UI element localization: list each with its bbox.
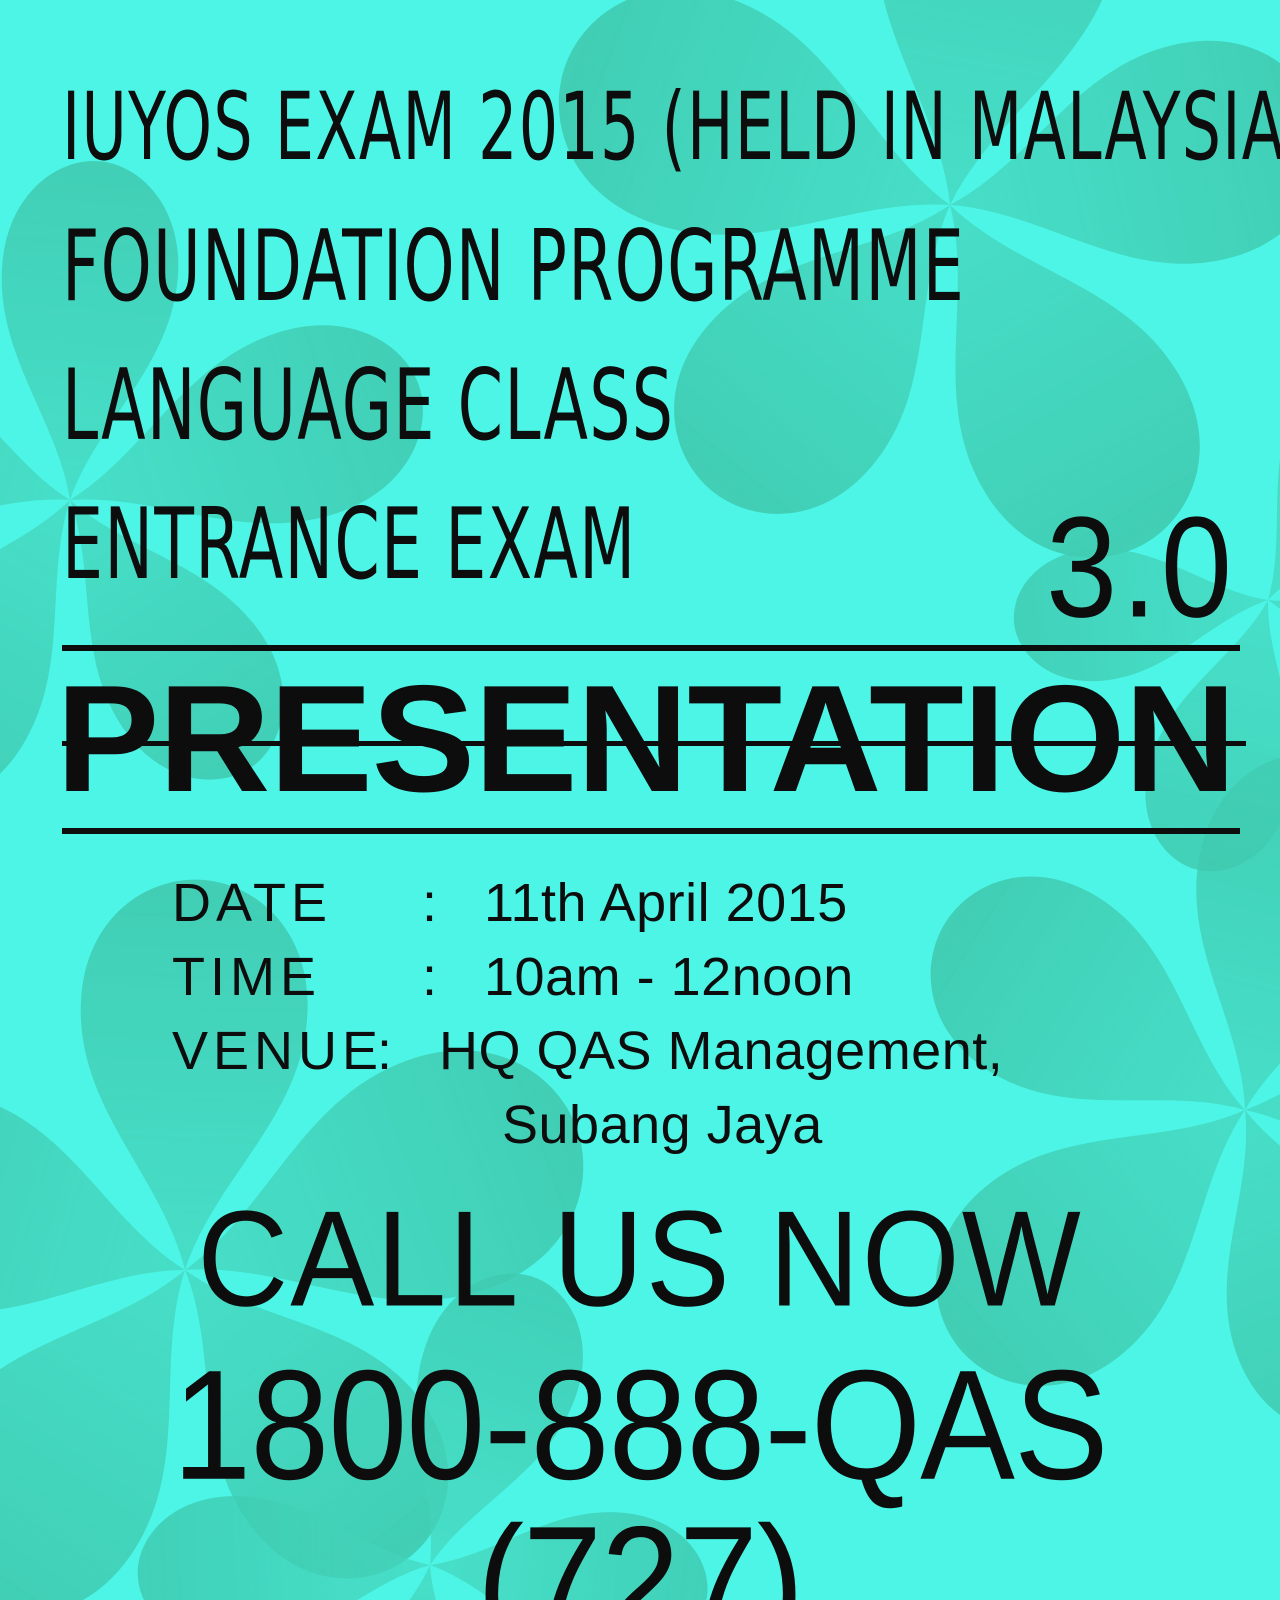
- heading-line-4: ENTRANCE EXAM: [62, 462, 1097, 626]
- page-title-text: PRESENTATION: [56, 664, 1270, 814]
- detail-colon-date: :: [422, 872, 484, 934]
- poster: IUYOS EXAM 2015 (HELD IN MALAYSIA) FOUND…: [0, 0, 1280, 1600]
- detail-row-venue: VENUE : HQ QAS Management,: [172, 1020, 1003, 1094]
- version-number: 3.0: [1046, 497, 1236, 640]
- detail-value-venue: HQ QAS Management,: [439, 1020, 1003, 1082]
- detail-label-date: DATE: [172, 872, 422, 934]
- detail-value-venue-line2: Subang Jaya: [172, 1094, 1003, 1168]
- phone-number[interactable]: 1800-888-QAS (727): [0, 1348, 1280, 1600]
- call-to-action-text: CALL US NOW: [0, 1191, 1280, 1327]
- detail-row-date: DATE : 11th April 2015: [172, 872, 1003, 946]
- divider-rule-top: [62, 645, 1240, 651]
- divider-rule-bottom: [62, 828, 1240, 834]
- detail-row-time: TIME : 10am - 12noon: [172, 946, 1003, 1020]
- detail-value-time: 10am - 12noon: [484, 946, 854, 1008]
- detail-colon-venue: :: [377, 1020, 439, 1082]
- detail-label-time: TIME: [172, 946, 422, 1008]
- detail-label-venue: VENUE: [172, 1020, 377, 1082]
- title-strikethrough-line: [62, 741, 1246, 746]
- detail-value-date: 11th April 2015: [484, 872, 848, 934]
- detail-colon-time: :: [422, 946, 484, 1008]
- event-details: DATE : 11th April 2015 TIME : 10am - 12n…: [172, 872, 1003, 1168]
- page-title: PRESENTATION: [56, 664, 1246, 814]
